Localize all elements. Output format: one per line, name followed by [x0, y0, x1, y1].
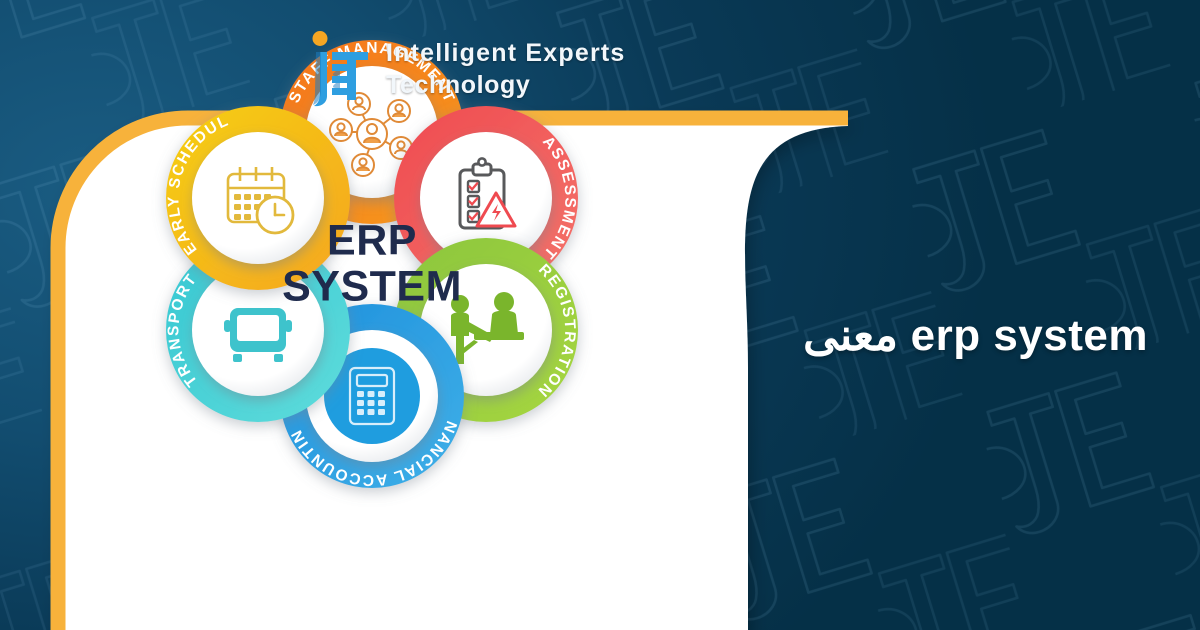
brand-line-2: Technology	[386, 69, 626, 101]
brand-line-1: Intelligent Experts	[386, 37, 626, 69]
page-headline: erp system معنى	[803, 310, 1148, 361]
poster-canvas: Intelligent Experts Technology	[0, 0, 1200, 630]
brand-name: Intelligent Experts Technology	[386, 37, 626, 101]
iet-monogram-logo-icon	[300, 30, 372, 108]
wheel-segment-yearly[interactable]: YEARLY SCHEDULE	[165, 106, 350, 290]
brand-header: Intelligent Experts Technology	[300, 30, 626, 108]
